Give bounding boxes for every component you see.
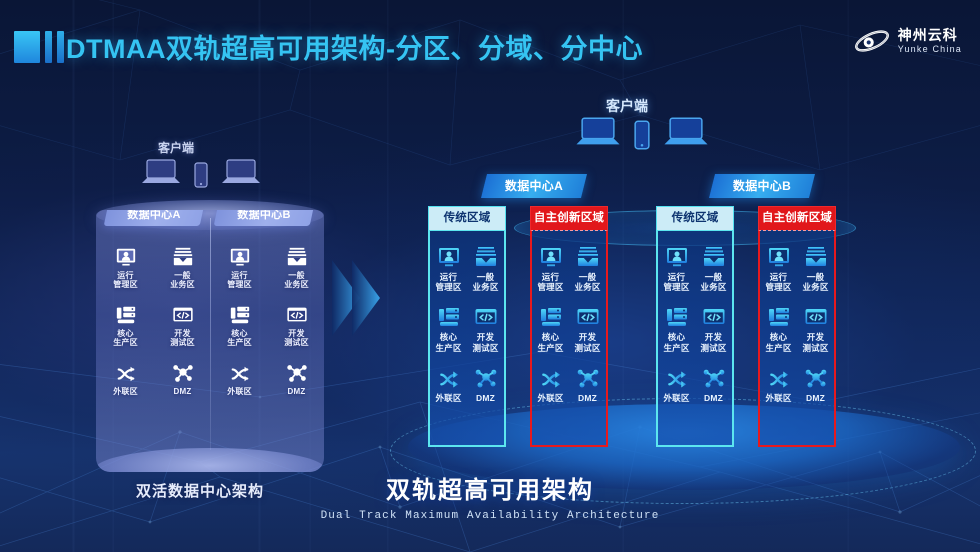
dc-a-traditional-header: 传统区域 — [428, 206, 506, 230]
zone-external[interactable]: 外联区 — [658, 362, 695, 403]
legacy-zone-label: 开发测试区 — [154, 329, 211, 348]
operations-monitor-icon — [430, 241, 467, 269]
zone-label: 外联区 — [430, 393, 467, 403]
dmz-network-nodes-icon — [569, 362, 606, 390]
zone-dmz[interactable]: DMZ — [569, 362, 606, 403]
dc-a-badge-label: 数据中心A — [484, 174, 584, 198]
general-business-tray-icon — [268, 242, 324, 268]
zone-label: DMZ — [569, 393, 606, 403]
legacy-datacenter-container: 数据中心A 运行管理区 一般业务区 — [96, 210, 324, 472]
dc-b-innovation-column[interactable]: 自主创新区域 运行管理区 一般业务区 — [758, 206, 836, 447]
zone-external[interactable]: 外联区 — [532, 362, 569, 403]
zone-label: 一般业务区 — [467, 272, 504, 292]
zone-label: 开发测试区 — [797, 332, 834, 352]
zone-operations[interactable]: 运行管理区 — [760, 241, 797, 292]
slide-root: DTMAA双轨超高可用架构-分区、分域、分中心 神州云科 Yunke China… — [0, 0, 980, 552]
swirl-logo-icon — [853, 26, 891, 56]
legacy-zone-operations[interactable]: 运行管理区 — [211, 242, 268, 290]
general-business-tray-icon — [467, 241, 504, 269]
dc-a-badge[interactable]: 数据中心A — [481, 174, 587, 198]
core-production-server-icon — [532, 301, 569, 329]
dc-b-innovation-header: 自主创新区域 — [758, 206, 836, 230]
laptop-icon — [662, 116, 710, 150]
dev-test-code-icon — [797, 301, 834, 329]
operations-monitor-icon — [532, 241, 569, 269]
dmz-network-nodes-icon — [467, 362, 504, 390]
zone-external[interactable]: 外联区 — [760, 362, 797, 403]
zone-label: 运行管理区 — [430, 272, 467, 292]
legacy-zone-operations[interactable]: 运行管理区 — [97, 242, 154, 290]
zone-label: 一般业务区 — [695, 272, 732, 292]
dc-a-innovation-column[interactable]: 自主创新区域 运行管理区 一般业务区 — [530, 206, 608, 447]
zone-label: DMZ — [797, 393, 834, 403]
legacy-architecture-diagram: 客户端 数据中心A — [86, 130, 336, 450]
zone-general-business[interactable]: 一般业务区 — [467, 241, 504, 292]
legacy-zone-label: 外联区 — [211, 387, 268, 396]
laptop-icon — [574, 116, 622, 150]
legacy-dc-a-zone-grid: 运行管理区 一般业务区 核心生产区 — [97, 242, 211, 406]
dev-test-code-icon — [467, 301, 504, 329]
zone-label: 运行管理区 — [760, 272, 797, 292]
operations-monitor-icon — [97, 242, 154, 268]
brand-name-en: Yunke China — [898, 45, 962, 54]
zone-label: 核心生产区 — [658, 332, 695, 352]
operations-monitor-icon — [658, 241, 695, 269]
general-business-tray-icon — [154, 242, 211, 268]
legacy-dc-a-badge[interactable]: 数据中心A — [104, 210, 205, 226]
external-link-arrows-icon — [532, 362, 569, 390]
page-header: DTMAA双轨超高可用架构-分区、分域、分中心 神州云科 Yunke China — [0, 0, 980, 88]
zone-label: 运行管理区 — [658, 272, 695, 292]
dev-test-code-icon — [569, 301, 606, 329]
bottom-title-en: Dual Track Maximum Availability Architec… — [0, 510, 980, 522]
legacy-dc-b-badge[interactable]: 数据中心B — [214, 210, 315, 226]
legacy-dc-b-badge-label: 数据中心B — [216, 210, 312, 226]
laptop-icon — [220, 158, 262, 188]
zone-operations[interactable]: 运行管理区 — [430, 241, 467, 292]
zone-dmz[interactable]: DMZ — [695, 362, 732, 403]
dev-test-code-icon — [268, 300, 324, 326]
external-link-arrows-icon — [211, 358, 268, 384]
zone-label: 外联区 — [658, 393, 695, 403]
dc-a-traditional-body: 运行管理区 一般业务区 核心生产区 — [428, 230, 506, 447]
dmz-network-nodes-icon — [797, 362, 834, 390]
zone-label: 外联区 — [760, 393, 797, 403]
zone-label: 运行管理区 — [532, 272, 569, 292]
dc-a-innovation-body: 运行管理区 一般业务区 核心生产区 — [530, 230, 608, 447]
zone-dev-test[interactable]: 开发测试区 — [797, 301, 834, 352]
new-client-devices — [574, 116, 710, 150]
zone-label: DMZ — [467, 393, 504, 403]
zone-dmz[interactable]: DMZ — [467, 362, 504, 403]
zone-core-production[interactable]: 核心生产区 — [658, 301, 695, 352]
zone-label: 核心生产区 — [760, 332, 797, 352]
dmz-network-nodes-icon — [695, 362, 732, 390]
dev-test-code-icon — [695, 301, 732, 329]
legacy-zone-label: 外联区 — [97, 387, 154, 396]
zone-label: 核心生产区 — [532, 332, 569, 352]
core-production-server-icon — [97, 300, 154, 326]
legacy-zone-label: 核心生产区 — [211, 329, 268, 348]
zone-dev-test[interactable]: 开发测试区 — [695, 301, 732, 352]
zone-operations[interactable]: 运行管理区 — [532, 241, 569, 292]
zone-general-business[interactable]: 一般业务区 — [797, 241, 834, 292]
legacy-zone-external[interactable]: 外联区 — [97, 358, 154, 396]
core-production-server-icon — [760, 301, 797, 329]
dmz-network-nodes-icon — [154, 358, 211, 384]
zone-label: 开发测试区 — [467, 332, 504, 352]
legacy-zone-general-business[interactable]: 一般业务区 — [154, 242, 211, 290]
dc-b-traditional-body: 运行管理区 一般业务区 核心生产区 — [656, 230, 734, 447]
legacy-zone-label: 核心生产区 — [97, 329, 154, 348]
header-accent-bars-icon — [14, 31, 64, 63]
zone-core-production[interactable]: 核心生产区 — [430, 301, 467, 352]
zone-dev-test[interactable]: 开发测试区 — [569, 301, 606, 352]
laptop-icon — [140, 158, 182, 188]
dc-b-badge[interactable]: 数据中心B — [709, 174, 815, 198]
page-title: DTMAA双轨超高可用架构-分区、分域、分中心 — [66, 27, 643, 66]
legacy-zone-dev-test[interactable]: 开发测试区 — [268, 300, 324, 348]
legacy-zone-label: 开发测试区 — [268, 329, 324, 348]
brand-name-cn: 神州云科 — [898, 28, 962, 42]
zone-label: 外联区 — [532, 393, 569, 403]
legacy-zone-label: DMZ — [268, 387, 324, 396]
legacy-zone-label: 运行管理区 — [211, 271, 268, 290]
phone-icon — [194, 162, 208, 188]
legacy-zone-general-business[interactable]: 一般业务区 — [268, 242, 324, 290]
legacy-base-platform — [96, 448, 324, 472]
legacy-zone-label: 运行管理区 — [97, 271, 154, 290]
bottom-title-cn: 双轨超高可用架构 — [0, 470, 980, 505]
legacy-zone-dev-test[interactable]: 开发测试区 — [154, 300, 211, 348]
phone-icon — [634, 120, 650, 150]
zone-dmz[interactable]: DMZ — [797, 362, 834, 403]
legacy-zone-external[interactable]: 外联区 — [211, 358, 268, 396]
operations-monitor-icon — [760, 241, 797, 269]
new-client-label: 客户端 — [606, 96, 648, 116]
legacy-zone-label: 一般业务区 — [154, 271, 211, 290]
brand-logo: 神州云科 Yunke China — [853, 26, 962, 56]
dc-b-badge-label: 数据中心B — [712, 174, 812, 198]
legacy-zone-dmz[interactable]: DMZ — [154, 358, 211, 396]
architecture-bottom-title: 双轨超高可用架构 Dual Track Maximum Availability… — [0, 470, 980, 522]
core-production-server-icon — [211, 300, 268, 326]
zone-label: DMZ — [695, 393, 732, 403]
zone-label: 开发测试区 — [695, 332, 732, 352]
dc-a-innovation-header: 自主创新区域 — [530, 206, 608, 230]
legacy-client-label: 客户端 — [158, 139, 194, 156]
operations-monitor-icon — [211, 242, 268, 268]
zone-external[interactable]: 外联区 — [430, 362, 467, 403]
zone-general-business[interactable]: 一般业务区 — [569, 241, 606, 292]
legacy-dc-a-badge-label: 数据中心A — [106, 210, 202, 226]
legacy-zone-core-production[interactable]: 核心生产区 — [97, 300, 154, 348]
legacy-zone-label: DMZ — [154, 387, 211, 396]
external-link-arrows-icon — [97, 358, 154, 384]
zone-dev-test[interactable]: 开发测试区 — [467, 301, 504, 352]
zone-core-production[interactable]: 核心生产区 — [760, 301, 797, 352]
legacy-zone-dmz[interactable]: DMZ — [268, 358, 324, 396]
zone-label: 一般业务区 — [797, 272, 834, 292]
legacy-dc-b-zone-grid: 运行管理区 一般业务区 核心生产区 — [211, 242, 324, 406]
dmz-network-nodes-icon — [268, 358, 324, 384]
zone-core-production[interactable]: 核心生产区 — [532, 301, 569, 352]
general-business-tray-icon — [569, 241, 606, 269]
zone-label: 一般业务区 — [569, 272, 606, 292]
external-link-arrows-icon — [430, 362, 467, 390]
external-link-arrows-icon — [658, 362, 695, 390]
dc-b-traditional-header: 传统区域 — [656, 206, 734, 230]
zone-label: 开发测试区 — [569, 332, 606, 352]
dc-b-traditional-column[interactable]: 传统区域 运行管理区 一般业务区 — [656, 206, 734, 447]
core-production-server-icon — [658, 301, 695, 329]
legacy-zone-core-production[interactable]: 核心生产区 — [211, 300, 268, 348]
general-business-tray-icon — [797, 241, 834, 269]
zone-general-business[interactable]: 一般业务区 — [695, 241, 732, 292]
zone-operations[interactable]: 运行管理区 — [658, 241, 695, 292]
legacy-zone-label: 一般业务区 — [268, 271, 324, 290]
dc-a-traditional-column[interactable]: 传统区域 运行管理区 一般业务区 — [428, 206, 506, 447]
dc-b-innovation-body: 运行管理区 一般业务区 核心生产区 — [758, 230, 836, 447]
legacy-client-devices — [140, 158, 262, 188]
new-architecture-diagram: 客户端 数据中心A 数据中心B 传统区域 — [398, 88, 970, 508]
core-production-server-icon — [430, 301, 467, 329]
external-link-arrows-icon — [760, 362, 797, 390]
dev-test-code-icon — [154, 300, 211, 326]
zone-label: 核心生产区 — [430, 332, 467, 352]
double-chevron-right-icon — [330, 250, 386, 346]
general-business-tray-icon — [695, 241, 732, 269]
